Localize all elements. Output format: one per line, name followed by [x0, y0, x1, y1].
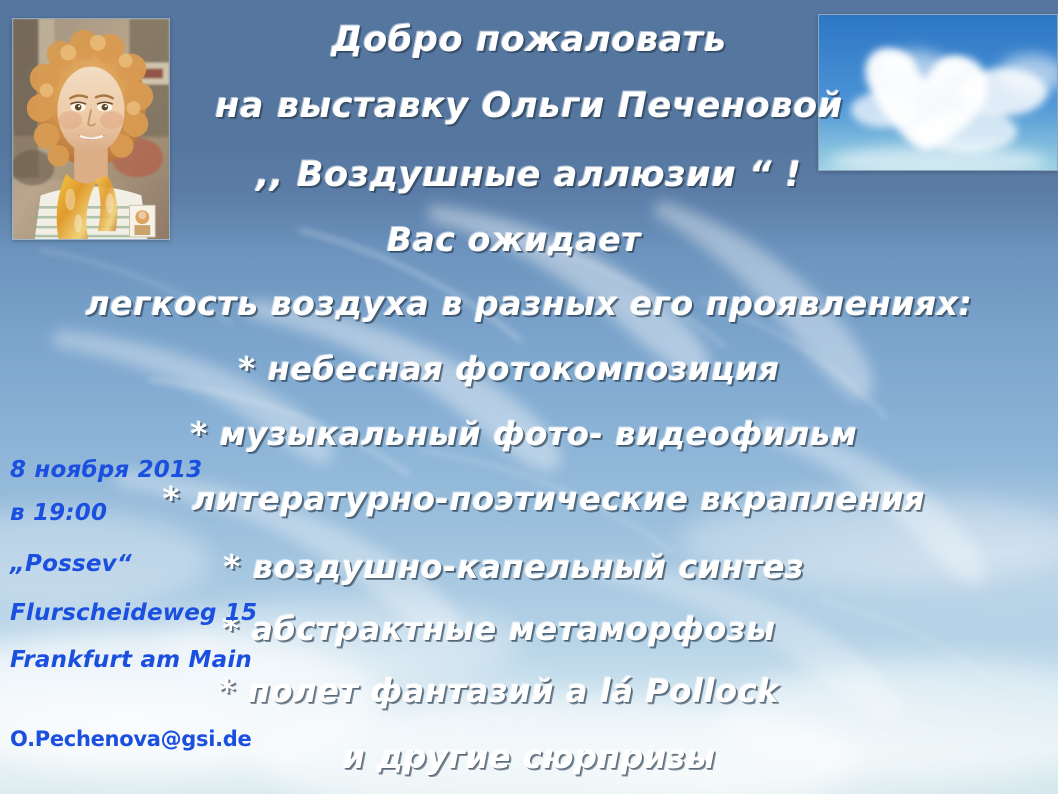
exhibition-invitation-poster: Добро пожаловать на выставку Ольги Печен… — [0, 0, 1058, 794]
bullet-marker-1: * — [191, 415, 208, 453]
bullet-label-2: литературно-поэтические вкрапления — [192, 480, 925, 518]
bullet-label-5: полет фантазий а lá Pollock — [248, 672, 779, 710]
bullet-label-3: воздушно-капельный синтез — [253, 548, 805, 586]
headline-line-1: Добро пожаловать — [0, 20, 1058, 60]
bullet-label-1: музыкальный фото- видеофильм — [220, 415, 858, 453]
contact-email[interactable]: O.Pechenova@gsi.de — [10, 727, 251, 751]
bullet-marker-2: * — [163, 480, 180, 518]
bullet-item-0: * небесная фотокомпозиция — [0, 350, 1018, 388]
bullet-item-1: * музыкальный фото- видеофильм — [0, 415, 1048, 453]
bullet-marker-3: * — [224, 548, 241, 586]
bullet-item-5: * полет фантазий а lá Pollock — [0, 672, 998, 710]
venue-name: „Possev“ — [10, 551, 132, 577]
event-date: 8 ноября 2013 — [10, 457, 202, 483]
bullet-item-3: * воздушно-капельный синтез — [0, 548, 1028, 586]
bullet-label-0: небесная фотокомпозиция — [268, 350, 780, 388]
bullet-item-2: * литературно-поэтические вкрапления — [30, 480, 1058, 518]
headline-line-3: ,, Воздушные аллюзии “ ! — [0, 155, 1058, 195]
intro-line-2: легкость воздуха в разных его проявления… — [0, 284, 1058, 323]
venue-street: Flurscheideweg 15 — [10, 600, 257, 626]
venue-city: Frankfurt am Main — [10, 647, 252, 673]
bullet-marker-5: * — [219, 672, 236, 710]
event-time: в 19:00 — [10, 500, 107, 526]
headline-line-2: на выставку Ольги Печеновой — [0, 86, 1058, 126]
bullet-label-4: абстрактные метаморфозы — [251, 610, 775, 648]
intro-line-1: Вас ожидает — [0, 220, 1028, 259]
bullet-marker-0: * — [238, 350, 255, 388]
